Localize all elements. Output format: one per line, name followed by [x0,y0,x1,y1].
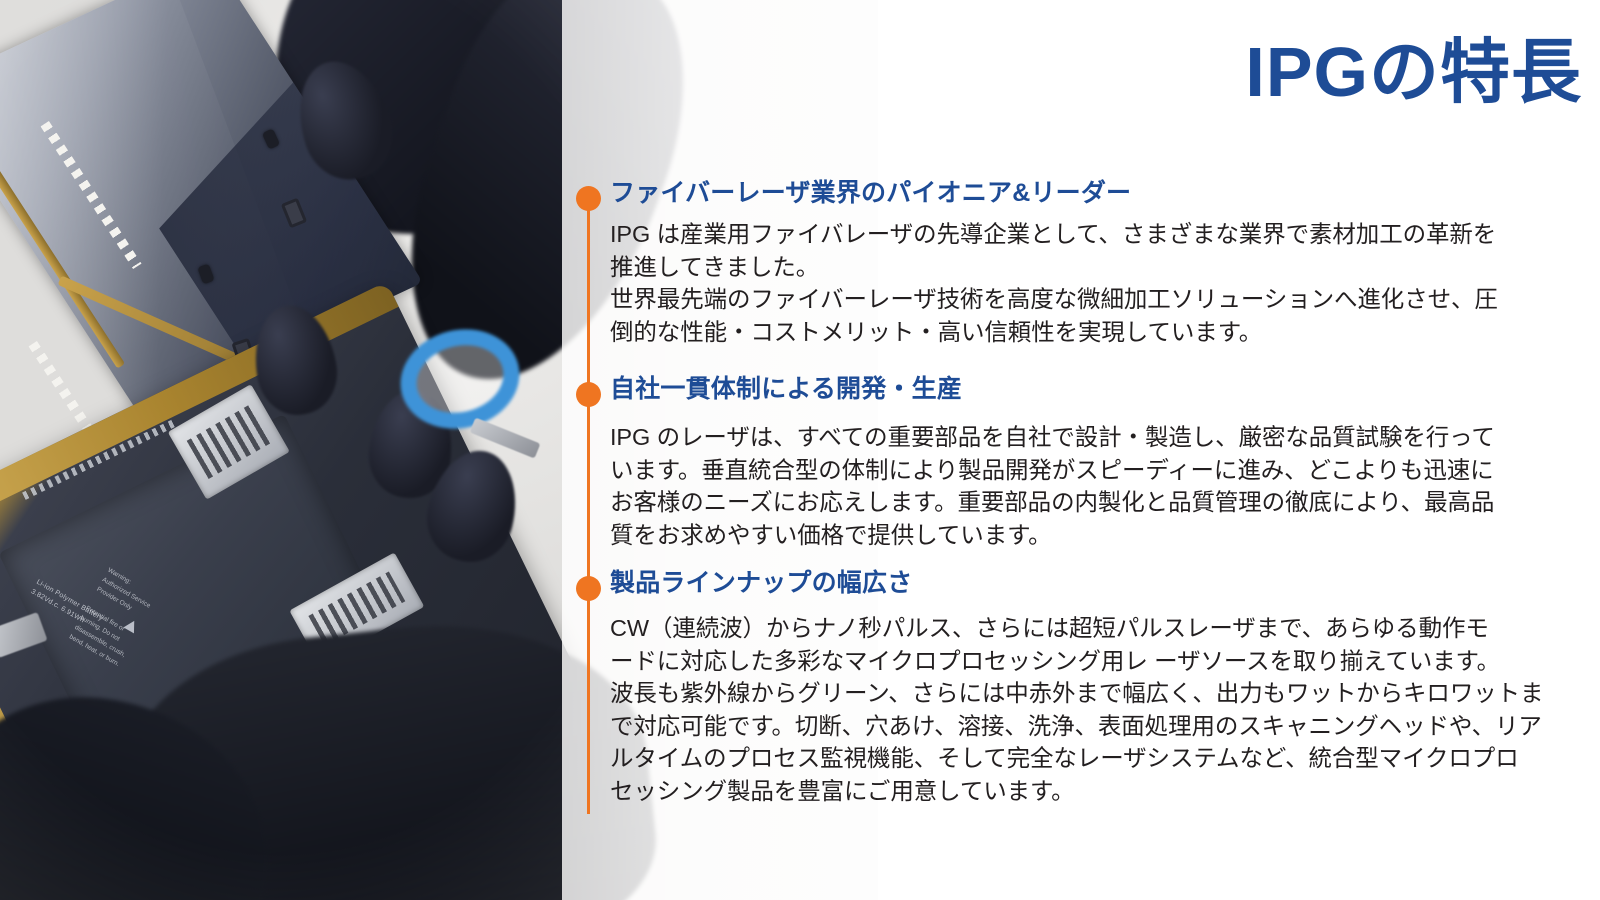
feature-body: IPG のレーザは、すべての重要部品を自社で設計・製造し、厳密な品質試験を行って… [610,421,1575,551]
feature-body: IPG は産業用ファイバレーザの先導企業として、さまざまな業界で素材加工の革新を… [610,218,1575,348]
bullet-dot-icon [576,576,601,601]
hero-photo: Li-ion Polymer Battery 3.82Vd.c. 6.91Wh … [0,0,562,900]
feature-section-lineup: 製品ラインナップの幅広さ CW（連続波）からナノ秒パルス、さらには超短パルスレー… [562,568,1592,808]
slide-canvas: Li-ion Polymer Battery 3.82Vd.c. 6.91Wh … [0,0,1600,900]
feature-body: CW（連続波）からナノ秒パルス、さらには超短パルスレーザまで、あらゆる動作モ ー… [610,612,1575,807]
photo-artwork: Li-ion Polymer Battery 3.82Vd.c. 6.91Wh … [0,0,562,900]
page-title: IPGの特長 [892,36,1582,110]
feature-section-pioneer: ファイバーレーザ業界のパイオニア&リーダー IPG は産業用ファイバレーザの先導… [562,178,1592,348]
feature-heading: 製品ラインナップの幅広さ [610,568,1592,599]
feature-section-in-house: 自社一貫体制による開発・生産 IPG のレーザは、すべての重要部品を自社で設計・… [562,374,1592,551]
feature-heading: ファイバーレーザ業界のパイオニア&リーダー [610,178,1592,209]
feature-heading: 自社一貫体制による開発・生産 [610,374,1592,405]
bullet-dot-icon [576,382,601,407]
content-column: IPGの特長 ファイバーレーザ業界のパイオニア&リーダー IPG は産業用ファイ… [562,0,1600,900]
bullet-dot-icon [576,186,601,211]
